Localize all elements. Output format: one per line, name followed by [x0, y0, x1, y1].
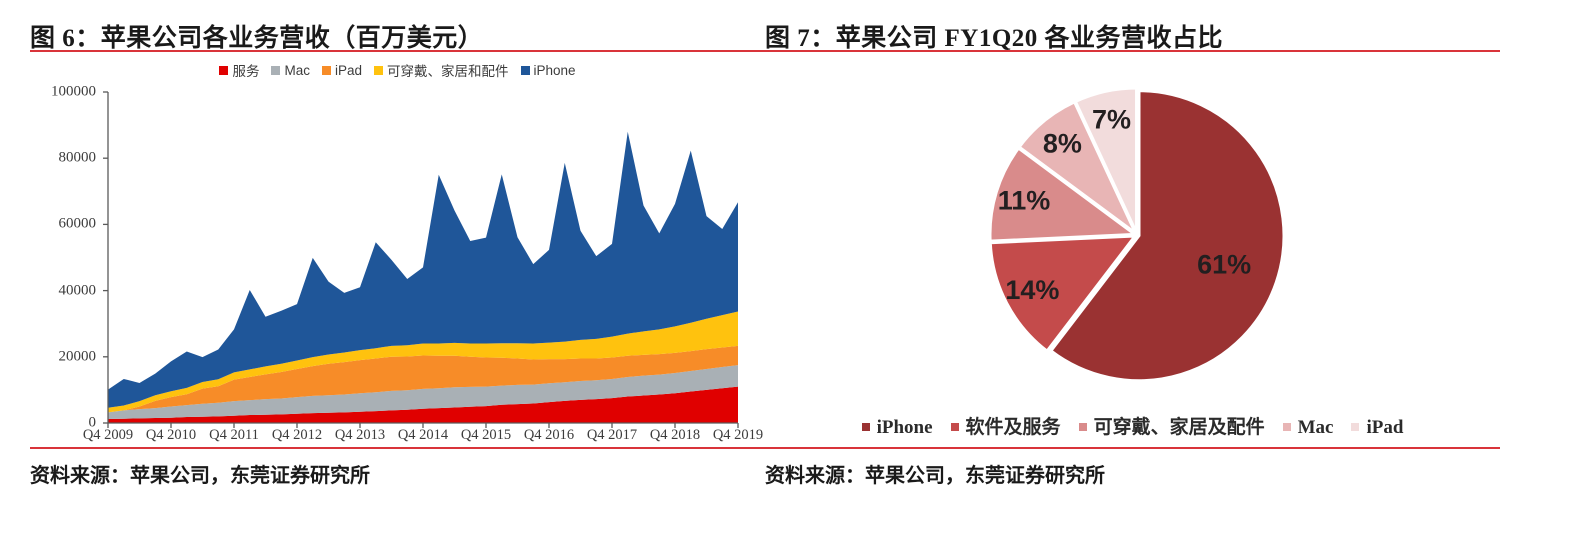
legend-swatch-icon: [951, 423, 959, 431]
legend-swatch-icon: [862, 423, 870, 431]
pie-slice-value-label: 14%: [1005, 275, 1059, 305]
figure-6-chart: 服务MaciPad可穿戴、家居和配件iPhone 020000400006000…: [30, 52, 765, 447]
figure-6-panel: 图 6：苹果公司各业务营收（百万美元） 服务MaciPad可穿戴、家居和配件iP…: [30, 0, 765, 558]
pie-legend-label: iPad: [1366, 417, 1403, 438]
figure-page: 图 6：苹果公司各业务营收（百万美元） 服务MaciPad可穿戴、家居和配件iP…: [0, 0, 1590, 558]
legend-swatch-icon: [1351, 423, 1359, 431]
pie-slice-value-label: 61%: [1197, 250, 1251, 280]
pie-slice-value-label: 8%: [1043, 128, 1082, 158]
pie-legend-label: iPhone: [877, 417, 933, 438]
pie-legend-item-iPhone: iPhone: [862, 417, 933, 439]
pie-legend-item-iPad: iPad: [1351, 417, 1403, 439]
figure-6-title: 图 6：苹果公司各业务营收（百万美元）: [30, 0, 765, 40]
pie-slice-value-label: 7%: [1092, 105, 1131, 135]
pie-slice-value-label: 11%: [998, 186, 1051, 216]
pie-legend-item-软件及服务: 软件及服务: [951, 412, 1061, 439]
pie-legend-label: 可穿戴、家居及配件: [1094, 417, 1265, 438]
figure-6-source: 资料来源：苹果公司，东莞证券研究所: [30, 449, 765, 488]
pie-legend-item-Mac: Mac: [1283, 417, 1334, 439]
figure-7-chart: 61%14%11%8%7% iPhone软件及服务可穿戴、家居及配件MaciPa…: [765, 52, 1500, 447]
pie-chart-legend: iPhone软件及服务可穿戴、家居及配件MaciPad: [765, 412, 1500, 439]
pie-legend-label: Mac: [1298, 417, 1334, 438]
pie-chart-plot: 61%14%11%8%7%: [765, 52, 1500, 412]
figure-7-title: 图 7：苹果公司 FY1Q20 各业务营收占比: [765, 0, 1500, 40]
legend-swatch-icon: [1079, 423, 1087, 431]
figure-7-source: 资料来源：苹果公司，东莞证券研究所: [765, 449, 1500, 488]
pie-legend-item-可穿戴、家居及配件: 可穿戴、家居及配件: [1079, 412, 1265, 439]
area-chart-plot: [30, 52, 765, 447]
pie-legend-label: 软件及服务: [966, 417, 1061, 438]
legend-swatch-icon: [1283, 423, 1291, 431]
figure-7-panel: 图 7：苹果公司 FY1Q20 各业务营收占比 61%14%11%8%7% iP…: [765, 0, 1500, 558]
